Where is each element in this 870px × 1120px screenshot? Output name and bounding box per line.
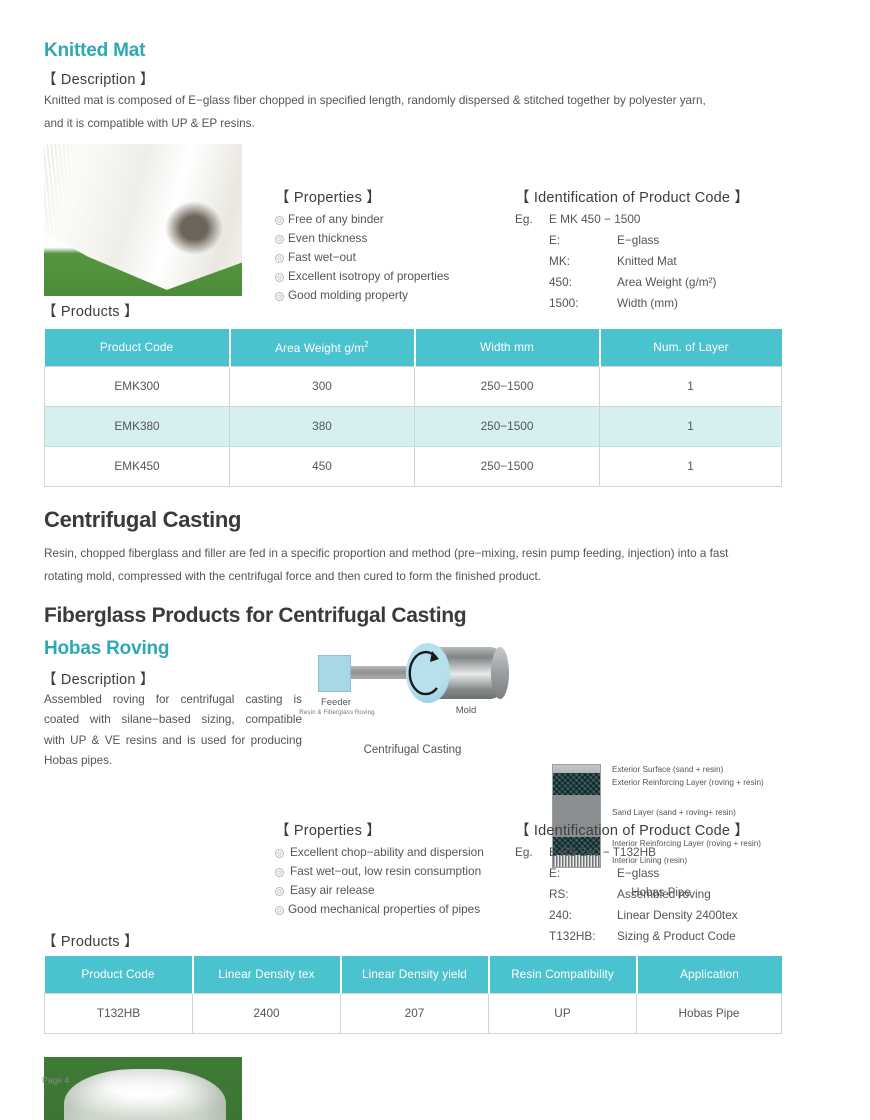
identification-table: Eg. E RS 240 − T132HB E: E−glass RS: Ass… <box>515 844 749 949</box>
cell-width: 250−1500 <box>415 366 600 406</box>
cell-product-code: T132HB <box>45 993 193 1033</box>
hobas-roving-properties-list: Excellent chop−ability and dispersion Fa… <box>275 843 484 919</box>
eg-label: Eg. <box>515 211 549 232</box>
knitted-mat-properties-list: Free of any binder Even thickness Fast w… <box>275 210 449 306</box>
cell-linear-density-yield: 207 <box>341 993 489 1033</box>
identification-row: RS: Assembled roving <box>515 886 738 907</box>
page-number: Page 4 <box>42 1075 69 1085</box>
cell-resin-compatibility: UP <box>489 993 637 1033</box>
identification-heading: 【 Identification of Product Code 】 <box>515 186 749 207</box>
cell-linear-density-tex: 2400 <box>193 993 341 1033</box>
description-line-1: Knitted mat is composed of E−glass fiber… <box>44 90 804 113</box>
cell-application: Hobas Pipe <box>637 993 782 1033</box>
knitted-mat-products-heading: 【 Products 】 <box>42 300 139 321</box>
cell-product-code: EMK380 <box>45 406 230 446</box>
column-header-application: Application <box>637 956 782 993</box>
rotation-arrow-icon <box>406 643 450 703</box>
centrifugal-casting-paragraph: Resin, chopped fiberglass and filler are… <box>44 543 796 589</box>
identification-example-row: Eg. E RS 240 − T132HB <box>515 844 738 865</box>
ident-key: 450: <box>549 274 617 295</box>
ident-value: E−glass <box>617 865 738 886</box>
hobas-roving-title: Hobas Roving <box>44 638 169 660</box>
knitted-mat-products-table-wrap: Product Code Area Weight g/m2 Width mm N… <box>44 329 782 487</box>
property-item: Good molding property <box>275 286 449 305</box>
cell-product-code: EMK300 <box>45 366 230 406</box>
table-row: EMK450 450 250−1500 1 <box>45 446 782 486</box>
table-row: EMK300 300 250−1500 1 <box>45 366 782 406</box>
property-item: Free of any binder <box>275 210 449 229</box>
property-item: Excellent chop−ability and dispersion <box>275 843 484 862</box>
identification-row: T132HB: Sizing & Product Code <box>515 928 738 949</box>
cell-width: 250−1500 <box>415 446 600 486</box>
properties-heading: 【 Properties 】 <box>275 819 484 840</box>
cell-area-weight: 380 <box>230 406 415 446</box>
ident-value: Knitted Mat <box>617 253 716 274</box>
hobas-roving-products-heading: 【 Products 】 <box>42 930 139 951</box>
ident-value: Assembled roving <box>617 886 738 907</box>
ident-value: Width (mm) <box>617 295 716 316</box>
property-item: Excellent isotropy of properties <box>275 267 449 286</box>
column-header-width: Width mm <box>415 329 600 366</box>
hobas-roving-identification-block: 【 Identification of Product Code 】 Eg. E… <box>515 819 749 949</box>
hobas-roving-description-heading: 【 Description 】 <box>42 668 155 689</box>
ident-key: 240: <box>549 907 617 928</box>
ident-key: MK: <box>549 253 617 274</box>
casting-diagram-graphic: Feeder Resin & Fiberglass Roving Mold <box>310 633 515 728</box>
ident-value: Sizing & Product Code <box>617 928 738 949</box>
identification-heading: 【 Identification of Product Code 】 <box>515 819 749 840</box>
feeder-label: Feeder <box>310 697 362 708</box>
property-item: Easy air release <box>275 881 484 900</box>
cell-product-code: EMK450 <box>45 446 230 486</box>
description-line-3: with UP & VE resins and is used for prod… <box>44 731 302 751</box>
knitted-mat-title: Knitted Mat <box>44 40 145 62</box>
cell-area-weight: 450 <box>230 446 415 486</box>
identification-row: E: E−glass <box>515 865 738 886</box>
example-code: E RS 240 − T132HB <box>549 844 738 865</box>
description-line-2: coated with silane−based sizing, compati… <box>44 710 302 730</box>
layer-exterior-reinforcing <box>552 773 601 795</box>
knitted-mat-identification-block: 【 Identification of Product Code 】 Eg. E… <box>515 186 749 316</box>
ident-value: Area Weight (g/m²) <box>617 274 716 295</box>
description-line-2: and it is compatible with UP & EP resins… <box>44 113 804 136</box>
property-item: Fast wet−out <box>275 248 449 267</box>
property-item: Even thickness <box>275 229 449 248</box>
property-item: Good mechanical properties of pipes <box>275 900 484 919</box>
property-item: Fast wet−out, low resin consumption <box>275 862 484 881</box>
column-header-linear-density-yield: Linear Density yield <box>341 956 489 993</box>
column-header-product-code: Product Code <box>45 956 193 993</box>
pipe-layer-label: Exterior Reinforcing Layer (roving + res… <box>612 778 764 788</box>
knitted-mat-properties-block: 【 Properties 】 Free of any binder Even t… <box>275 186 449 306</box>
paragraph-line-1: Resin, chopped fiberglass and filler are… <box>44 543 796 566</box>
casting-diagram-caption: Centrifugal Casting <box>310 744 515 756</box>
centrifugal-casting-title: Centrifugal Casting <box>44 507 241 533</box>
description-line-1: Assembled roving for centrifugal casting… <box>44 690 302 710</box>
paragraph-line-2: rotating mold, compressed with the centr… <box>44 566 796 589</box>
pipe-layer-label: Exterior Surface (sand + resin) <box>612 765 723 775</box>
description-line-4: Hobas pipes. <box>44 751 302 771</box>
identification-example-row: Eg. E MK 450 − 1500 <box>515 211 716 232</box>
cell-layers: 1 <box>600 406 782 446</box>
identification-row: 1500: Width (mm) <box>515 295 716 316</box>
cell-area-weight: 300 <box>230 366 415 406</box>
table-header-row: Product Code Area Weight g/m2 Width mm N… <box>45 329 782 366</box>
identification-row: 240: Linear Density 2400tex <box>515 907 738 928</box>
cell-width: 250−1500 <box>415 406 600 446</box>
pipe-layer-label: Sand Layer (sand + roving+ resin) <box>612 808 736 818</box>
identification-row: MK: Knitted Mat <box>515 253 716 274</box>
ident-key: E: <box>549 865 617 886</box>
column-header-num-layer: Num. of Layer <box>600 329 782 366</box>
ident-key: 1500: <box>549 295 617 316</box>
fiberglass-products-subtitle: Fiberglass Products for Centrifugal Cast… <box>44 604 466 628</box>
column-header-resin-compatibility: Resin Compatibility <box>489 956 637 993</box>
layer-exterior-surface <box>552 764 601 773</box>
centrifugal-casting-diagram: Feeder Resin & Fiberglass Roving Mold Ce… <box>310 633 515 756</box>
eg-label: Eg. <box>515 844 549 865</box>
ident-key: E: <box>549 232 617 253</box>
cell-layers: 1 <box>600 366 782 406</box>
identification-table: Eg. E MK 450 − 1500 E: E−glass MK: Knitt… <box>515 211 749 316</box>
mold-label: Mold <box>438 705 494 716</box>
table-row: EMK380 380 250−1500 1 <box>45 406 782 446</box>
column-header-linear-density-tex: Linear Density tex <box>193 956 341 993</box>
properties-heading: 【 Properties 】 <box>275 186 449 207</box>
knitted-mat-description-heading: 【 Description 】 <box>42 68 155 89</box>
table-row: T132HB 2400 207 UP Hobas Pipe <box>45 993 782 1033</box>
ident-value: Linear Density 2400tex <box>617 907 738 928</box>
column-header-product-code: Product Code <box>45 329 230 366</box>
hobas-roving-photo <box>44 1057 242 1120</box>
feeder-shape <box>318 655 351 692</box>
hobas-roving-products-table-wrap: Product Code Linear Density tex Linear D… <box>44 956 782 1034</box>
hobas-roving-description: Assembled roving for centrifugal casting… <box>44 690 302 772</box>
document-page: Knitted Mat 【 Description 】 Knitted mat … <box>0 0 870 1120</box>
cell-layers: 1 <box>600 446 782 486</box>
ident-key: T132HB: <box>549 928 617 949</box>
page-footer: Page 4 <box>42 1075 69 1085</box>
ident-key: RS: <box>549 886 617 907</box>
identification-row: E: E−glass <box>515 232 716 253</box>
knitted-mat-products-table: Product Code Area Weight g/m2 Width mm N… <box>44 329 782 487</box>
table-header-row: Product Code Linear Density tex Linear D… <box>45 956 782 993</box>
knitted-mat-description: Knitted mat is composed of E−glass fiber… <box>44 90 804 136</box>
hobas-roving-properties-block: 【 Properties 】 Excellent chop−ability an… <box>275 819 484 919</box>
ident-value: E−glass <box>617 232 716 253</box>
hobas-roving-products-table: Product Code Linear Density tex Linear D… <box>44 956 782 1034</box>
knitted-mat-title-block: Knitted Mat <box>44 40 145 62</box>
column-header-area-weight: Area Weight g/m2 <box>230 329 415 366</box>
feeder-sublabel: Resin & Fiberglass Roving <box>296 709 378 716</box>
knitted-mat-photo <box>44 144 242 296</box>
example-code: E MK 450 − 1500 <box>549 211 716 232</box>
identification-row: 450: Area Weight (g/m²) <box>515 274 716 295</box>
